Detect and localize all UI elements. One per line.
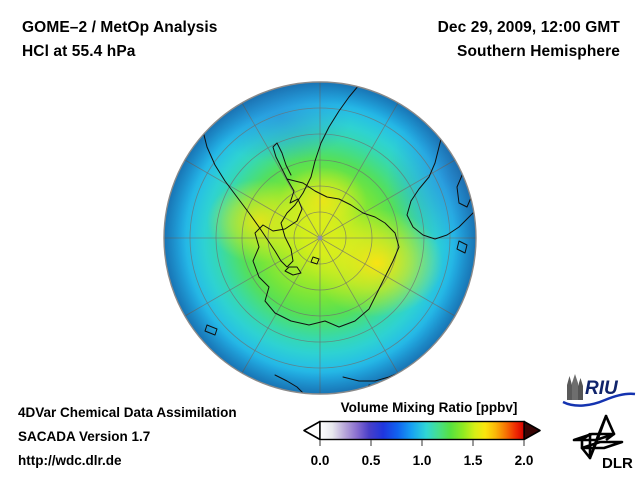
- colorbar-title: Volume Mixing Ratio [ppbv]: [312, 400, 546, 415]
- colorbar: Volume Mixing Ratio [ppbv] 0.0 0.5 1.0 1…: [298, 400, 546, 476]
- colorbar-gradient-bar: [320, 422, 524, 440]
- colorbar-tick-2: 1.0: [413, 453, 432, 468]
- dlr-mark-icon: [574, 416, 622, 458]
- footer-line-url[interactable]: http://wdc.dlr.de: [18, 453, 122, 468]
- colorbar-under-arrow: [304, 422, 320, 440]
- polar-globe-map: [163, 81, 477, 395]
- observation-date: Dec 29, 2009, 12:00 GMT: [438, 19, 620, 37]
- dlr-logo-text: DLR: [602, 455, 633, 472]
- globe-svg: [163, 81, 477, 395]
- colorbar-tick-3: 1.5: [464, 453, 483, 468]
- colorbar-over-arrow: [524, 422, 540, 440]
- footer-line-version: SACADA Version 1.7: [18, 429, 150, 444]
- colorbar-tick-1: 0.5: [362, 453, 381, 468]
- region-label: Southern Hemisphere: [457, 43, 620, 61]
- dlr-logo: DLR: [568, 414, 636, 472]
- colorbar-tick-0: 0.0: [311, 453, 330, 468]
- colorbar-tick-4: 2.0: [515, 453, 534, 468]
- riu-logo: RIU: [561, 372, 637, 408]
- colorbar-ticks: [320, 440, 524, 446]
- colorbar-tick-labels: 0.0 0.5 1.0 1.5 2.0: [311, 453, 534, 468]
- page-subtitle: HCl at 55.4 hPa: [22, 43, 136, 61]
- footer-line-method: 4DVar Chemical Data Assimilation: [18, 405, 237, 420]
- riu-spire-icon: [567, 374, 583, 400]
- limb-shading: [164, 82, 476, 394]
- colorbar-svg: 0.0 0.5 1.0 1.5 2.0: [298, 420, 546, 476]
- page-title: GOME–2 / MetOp Analysis: [22, 19, 218, 37]
